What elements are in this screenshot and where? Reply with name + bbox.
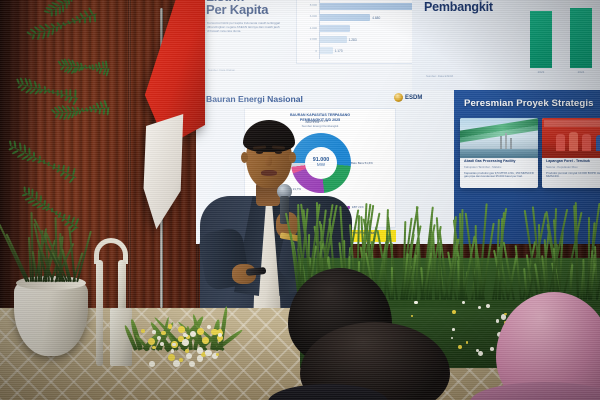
bouquet-flower [141, 329, 145, 333]
speaker-mouth [261, 170, 277, 176]
frond-leaflet [69, 22, 71, 24]
chart-bar [320, 36, 347, 43]
white-flower [496, 319, 499, 322]
chart-listrik-per-kapita: 8.6414.6801.2831.173 10.0008.0006.0004.0… [296, 0, 420, 64]
frond-leaflet [60, 94, 64, 99]
frond-leaflet [83, 9, 89, 16]
flower-arrangement [128, 290, 228, 374]
project-photo-1 [460, 118, 538, 158]
frond-leaflet [84, 17, 86, 23]
bouquet-flower [161, 331, 165, 335]
frond-leaflet [93, 14, 96, 22]
bouquet-flower [179, 358, 183, 362]
frond-leaflet [67, 215, 71, 221]
frond-leaflet [85, 67, 88, 70]
chart-bar-row: 8.641 [320, 3, 418, 10]
bouquet-flower [189, 361, 195, 367]
chart-bar-row [320, 25, 418, 32]
frond-leaflet [32, 158, 38, 163]
project-card-1-caption: Abadi Gas Processing Facility [464, 160, 534, 164]
frond-leaflet [64, 24, 66, 27]
white-flower [476, 349, 479, 352]
project-card-2-caption: Lapangan Forel - Terubuk [546, 160, 600, 164]
bouquet-flower [185, 349, 189, 353]
stanchion-post-left [96, 260, 103, 366]
bouquet-flower [197, 328, 204, 335]
frond-leaflet [74, 21, 76, 24]
frond-leaflet [9, 140, 12, 145]
chart-y-tick: 6.000 [297, 14, 317, 18]
bouquet-flower [157, 336, 161, 340]
grass-blade [391, 267, 393, 300]
frond-leaflet [75, 218, 80, 226]
chart-bar-value: 4.680 [372, 16, 380, 20]
logo-text: ESDM [405, 95, 422, 101]
chart-bar [320, 47, 333, 54]
bouquet-flower [152, 330, 156, 334]
frond-leaflet [22, 193, 27, 196]
chart-bar [320, 3, 413, 10]
press-conference-photo: Listrik Per Kapita Konsumsi listrik per … [0, 0, 600, 400]
frond-leaflet [56, 169, 60, 173]
chart-x-tick: 2023 [530, 70, 552, 74]
slide-b-title-line2: Pembangkit [424, 1, 493, 14]
slide-panel-terpasang-pembangkit: Terpasang Pembangkit Sumber: Data ESDM 2… [412, 0, 600, 90]
slide-c-title: Bauran Energi Nasional [206, 94, 303, 104]
frond-leaflet [51, 12, 53, 17]
chart-bar-row: 1.173 [320, 47, 418, 54]
frond-leaflet [27, 187, 29, 194]
bouquet-flower [186, 353, 192, 359]
chart-bar [570, 8, 592, 68]
grass-blade [461, 209, 463, 300]
frond-leaflet [42, 162, 45, 165]
frond-leaflet [78, 110, 81, 114]
frond-leaflet [23, 144, 26, 152]
bouquet-flower [197, 347, 203, 353]
frond-leaflet [89, 16, 92, 23]
slide-d-title: Peresmian Proyek Strategis [464, 98, 600, 109]
chart-bar-value: 1.283 [349, 38, 357, 42]
project-card-1-sub: Kabupaten Tanimbar - Maluku [464, 166, 534, 169]
donut-card-title-1: BAURAN KAPASITAS TERPASANG [245, 113, 395, 117]
bouquet-flower [152, 346, 155, 349]
chart-bar [320, 25, 350, 32]
frond-leaflet [56, 93, 59, 96]
bouquet-flower [202, 337, 208, 343]
bouquet-flower [205, 350, 212, 357]
palm-frond [60, 60, 111, 73]
chart-bar [320, 14, 370, 21]
bouquet-flower [149, 361, 155, 367]
chart-y-tick: 4.000 [297, 26, 317, 30]
chart-bar-row: 4.680 [320, 14, 418, 21]
bouquet-flower [207, 325, 211, 329]
bouquet-flower [216, 353, 219, 356]
bouquet-flower [173, 360, 180, 367]
frond-leaflet [8, 147, 13, 151]
frond-leaflet [23, 187, 25, 192]
project-card-2-body: Produksi puncak minyak 10.000 BOPD dan g… [546, 172, 600, 179]
frond-leaflet [94, 109, 97, 113]
bouquet-flower [182, 339, 189, 346]
speaker-nose [265, 156, 272, 166]
white-flower [414, 301, 417, 304]
frond-leaflet [92, 67, 95, 70]
white-flower [490, 347, 494, 351]
frond-leaflet [86, 109, 88, 111]
garuda-emblem-icon [394, 93, 403, 102]
project-card-2-sub: Natuna - Kepulauan Riau [546, 166, 600, 169]
frond-leaflet [37, 160, 41, 164]
frond-leaflet [43, 90, 47, 94]
project-photo-2 [542, 118, 600, 158]
bouquet-flower [168, 324, 172, 328]
frond-leaflet [82, 110, 85, 113]
frond-leaflet [60, 25, 62, 29]
frond-leaflet [90, 109, 93, 112]
frond-leaflet [33, 152, 35, 157]
frond-leaflet [79, 19, 81, 23]
frond-leaflet [48, 91, 51, 94]
slide-a-title-line2: Per Kapita [206, 3, 268, 16]
yellow-flower [411, 315, 413, 317]
white-flower [452, 328, 455, 331]
bouquet-flower [172, 343, 175, 346]
frond-leaflet [43, 199, 46, 205]
frond-leaflet [13, 141, 16, 148]
project-card-2: Lapangan Forel - Terubuk Natuna - Kepula… [542, 118, 600, 188]
chart-bar-row: 1.283 [320, 36, 418, 43]
frond-leaflet [28, 148, 30, 155]
project-card-1-body: Kapasitas produksi gas 9,5 MTPA LNG, 150… [464, 172, 534, 179]
chart-x-tick: 2024 [570, 70, 592, 74]
speaker-hair [243, 120, 295, 152]
bouquet-flower [171, 349, 175, 353]
frond-leaflet [39, 195, 41, 202]
speaker-ear-left [241, 152, 248, 163]
slide-a-blurb: Konsumsi listrik per kapita Indonesia ma… [207, 22, 281, 34]
frond-leaflet [36, 192, 38, 200]
white-flower [486, 304, 490, 308]
yellow-flower [504, 313, 506, 315]
chart-bar-value: 1.173 [335, 49, 343, 53]
chart-y-tick: 8.000 [297, 3, 317, 7]
chart-bar [530, 11, 552, 68]
speaker-ear-right [289, 152, 296, 163]
bouquet-flower [148, 338, 155, 345]
queue-stanchion [94, 238, 130, 366]
frond-leaflet [70, 0, 72, 2]
bouquet-flower [190, 331, 196, 337]
chart-y-tick: 2.000 [297, 37, 317, 41]
esdm-logo: ESDM [394, 93, 422, 102]
frond-leaflet [32, 189, 34, 197]
project-card-1: Abadi Gas Processing Facility Kabupaten … [460, 118, 538, 188]
chart-y-tick: 0 [297, 49, 317, 53]
slide-a-source: Sumber: Data Olahan [208, 68, 235, 72]
bouquet-flower [160, 342, 164, 346]
frond-leaflet [70, 89, 72, 96]
frond-leaflet [74, 89, 76, 97]
slide-b-source: Sumber: Data ESDM [426, 74, 453, 78]
frond-leaflet [47, 164, 50, 167]
frond-leaflet [52, 166, 55, 169]
